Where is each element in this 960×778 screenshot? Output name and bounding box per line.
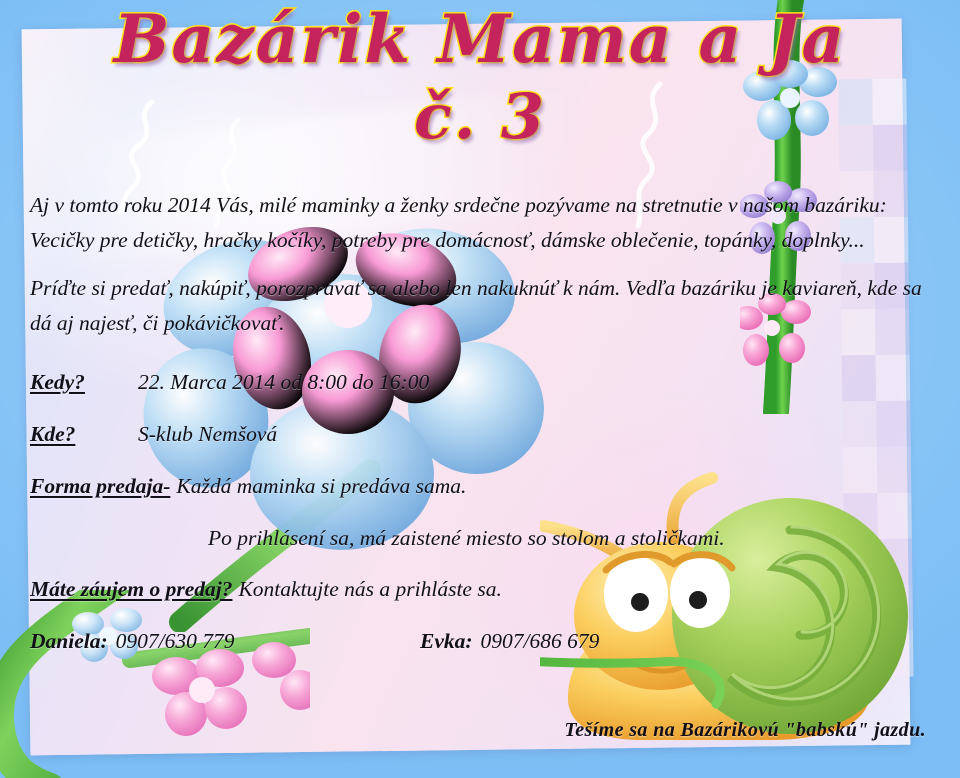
detail-value-sale-form: Každá maminka si predáva sama. — [170, 469, 466, 504]
poster-body: Aj v tomto roku 2014 Vás, milé maminky a… — [30, 188, 934, 659]
poster: Bazárik Mama a Ja č. 3 Aj v tomto roku 2… — [0, 0, 960, 778]
cta-row: Máte záujem o predaj? Kontaktujte nás a … — [30, 572, 934, 607]
contact-list: Daniela: 0907/630 779 Evka: 0907/686 679 — [30, 624, 934, 659]
second-paragraph: Príďte si predať, nakúpiť, porozprávať s… — [30, 271, 934, 341]
contact-phone-daniela[interactable]: 0907/630 779 — [116, 624, 235, 659]
contact-daniela: Daniela: 0907/630 779 — [30, 624, 420, 659]
detail-label-sale-form: Forma predaja- — [30, 469, 170, 504]
contact-phone-evka[interactable]: 0907/686 679 — [481, 624, 600, 659]
contact-name-evka: Evka: — [420, 624, 473, 659]
event-details: Kedy? 22. Marca 2014 od 8:00 do 16:00 Kd… — [30, 365, 934, 659]
cta-label: Máte záujem o predaj? — [30, 572, 232, 607]
contact-name-daniela: Daniela: — [30, 624, 108, 659]
detail-label-when: Kedy? — [30, 365, 138, 400]
detail-row-sale-form: Forma predaja- Každá maminka si predáva … — [30, 469, 934, 504]
registration-note: Po prihlásení sa, má zaistené miesto so … — [208, 521, 934, 556]
contact-evka: Evka: 0907/686 679 — [420, 624, 599, 659]
closing-line: Tešíme sa na Bazárikovú "babskú" jazdu. — [564, 719, 926, 742]
detail-value-when: 22. Marca 2014 od 8:00 do 16:00 — [138, 365, 429, 400]
detail-row-when: Kedy? 22. Marca 2014 od 8:00 do 16:00 — [30, 365, 934, 400]
detail-row-where: Kde? S-klub Nemšová — [30, 417, 934, 452]
cta-text: Kontaktujte nás a prihláste sa. — [232, 572, 501, 607]
intro-paragraph: Aj v tomto roku 2014 Vás, milé maminky a… — [30, 188, 934, 258]
detail-label-where: Kde? — [30, 417, 138, 452]
detail-value-where: S-klub Nemšová — [138, 417, 277, 452]
